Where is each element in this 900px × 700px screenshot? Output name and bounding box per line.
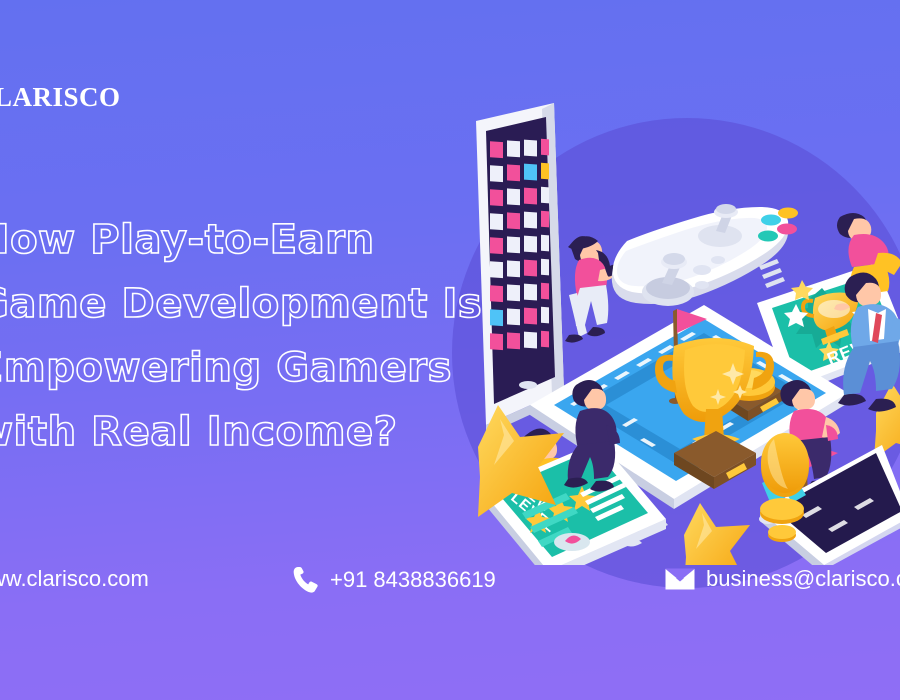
marketing-banner: REWARD <box>0 0 900 700</box>
email-label: business@clarisco.com <box>706 566 900 592</box>
phone-label: +91 8438836619 <box>330 567 496 593</box>
headline-line-2: Game Development Is <box>0 272 496 336</box>
brand-logo[interactable]: CLARISCO <box>0 82 121 113</box>
headline-line-4: with Real Income? <box>0 400 496 464</box>
phone-icon <box>293 566 319 594</box>
medal <box>760 433 809 524</box>
email-contact[interactable]: business@clarisco.com <box>665 566 900 592</box>
headline-line-3: Empowering Gamers <box>0 336 496 400</box>
page-title: How Play-to-Earn Game Development Is Emp… <box>0 208 496 464</box>
envelope-icon <box>665 568 695 590</box>
website-contact[interactable]: www.clarisco.com <box>0 566 149 592</box>
white-gamepad <box>612 204 798 306</box>
illustration-play-to-earn: REWARD <box>430 95 900 565</box>
contact-footer: www.clarisco.com +91 8438836619 business… <box>0 560 900 606</box>
headline-line-1: How Play-to-Earn <box>0 208 496 272</box>
coin-small <box>768 525 796 542</box>
gold-star-center <box>684 503 750 565</box>
character-girl-phone <box>565 236 621 343</box>
phone-contact[interactable]: +91 8438836619 <box>293 566 496 594</box>
website-label: www.clarisco.com <box>0 566 149 592</box>
